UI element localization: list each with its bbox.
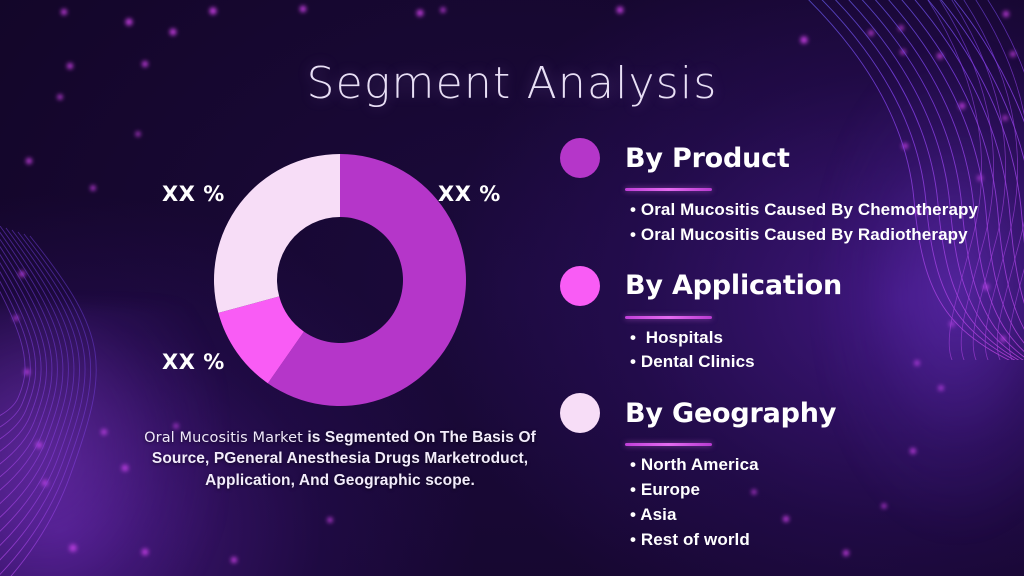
chart-caption: Oral Mucositis Market is Segmented On Th… <box>135 427 545 491</box>
segment-bullet-list: • Oral Mucositis Caused By Chemotherapy•… <box>630 198 1000 248</box>
segment-bullet-list: • North America• Europe• Asia• Rest of w… <box>630 453 1000 552</box>
donut-chart: XX % XX % XX % <box>140 150 540 430</box>
slide-canvas: Segment Analysis XX % XX % XX % Oral Muc… <box>0 0 1024 576</box>
slide-title: Segment Analysis <box>0 58 1024 109</box>
list-item: • North America <box>630 453 1000 478</box>
section-underline <box>625 316 712 319</box>
bullet-dot-icon <box>560 393 600 433</box>
section-underline <box>625 443 712 446</box>
segment-section: By Product• Oral Mucositis Caused By Che… <box>560 138 1000 248</box>
list-item: • Oral Mucositis Caused By Radiotherapy <box>630 223 1000 248</box>
segment-section-title: By Product <box>625 145 790 172</box>
list-item: • Rest of world <box>630 528 1000 553</box>
donut-slice <box>214 154 340 313</box>
bullet-dot-icon <box>560 266 600 306</box>
chart-label-right: XX % <box>438 182 501 206</box>
segment-bullet-list: • Hospitals• Dental Clinics <box>630 326 1000 376</box>
segment-section: By Geography• North America• Europe• Asi… <box>560 393 1000 552</box>
segment-section-header: By Product <box>560 138 1000 178</box>
list-item: • Dental Clinics <box>630 350 1000 375</box>
segment-section: By Application• Hospitals• Dental Clinic… <box>560 266 1000 376</box>
segment-section-header: By Geography <box>560 393 1000 433</box>
list-item: • Asia <box>630 503 1000 528</box>
section-underline <box>625 188 712 191</box>
segment-section-title: By Application <box>625 272 842 299</box>
donut-chart-svg <box>210 150 470 410</box>
chart-caption-lead: Oral Mucositis Market <box>144 430 303 446</box>
segment-panel: By Product• Oral Mucositis Caused By Che… <box>560 138 1000 571</box>
list-item: • Oral Mucositis Caused By Chemotherapy <box>630 198 1000 223</box>
segment-section-title: By Geography <box>625 400 836 427</box>
list-item: • Europe <box>630 478 1000 503</box>
chart-label-left-top: XX % <box>162 182 225 206</box>
bullet-dot-icon <box>560 138 600 178</box>
chart-label-left-bottom: XX % <box>162 350 225 374</box>
list-item: • Hospitals <box>630 326 1000 351</box>
segment-section-header: By Application <box>560 266 1000 306</box>
